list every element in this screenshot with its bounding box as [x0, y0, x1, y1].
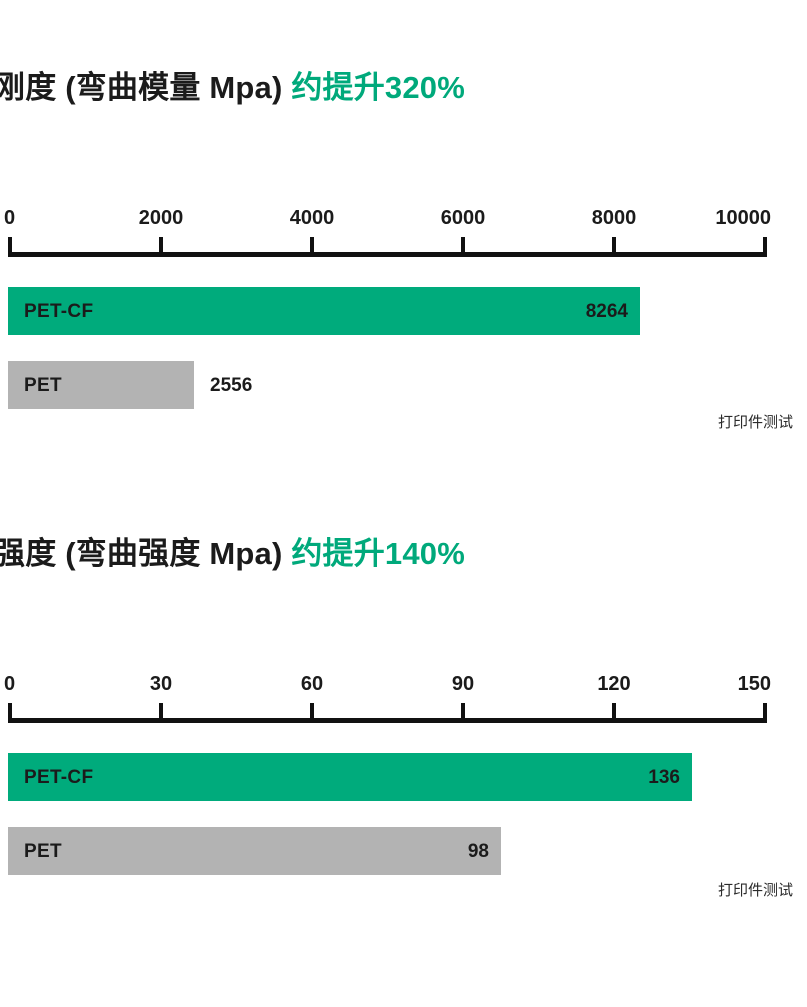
axis-tick-label: 0 [4, 208, 15, 228]
bar-label: PET-CF [24, 302, 93, 321]
bar-row: PET 2556 [0, 361, 807, 409]
bar-pet-cf: PET-CF 136 [8, 753, 692, 801]
axis-tick [612, 703, 616, 723]
chart-title: 强度 (弯曲强度 Mpa) 约提升140% [0, 538, 465, 569]
axis-tick-label: 10000 [715, 208, 771, 228]
chart-title-accent: 约提升140% [291, 536, 465, 571]
axis-tick [310, 703, 314, 723]
chart-bars: PET-CF 136 PET 98 [0, 753, 807, 901]
axis-line [10, 718, 765, 723]
bar-pet-cf: PET-CF 8264 [8, 287, 640, 335]
bar-label: PET [24, 842, 62, 861]
axis-tick-label: 120 [597, 674, 630, 694]
axis-tick [612, 237, 616, 257]
chart-footnote: 打印件测试 [718, 883, 793, 898]
axis-tick-label: 60 [301, 674, 323, 694]
bar-label: PET [24, 376, 62, 395]
bar-row: PET-CF 8264 [0, 287, 807, 335]
chart-axis: 0 2000 4000 6000 8000 10000 [10, 197, 765, 257]
chart-title-main: 强度 (弯曲强度 Mpa) [0, 536, 282, 571]
axis-tick-label: 6000 [441, 208, 486, 228]
bar-row: PET 98 [0, 827, 807, 875]
axis-tick-label: 150 [738, 674, 771, 694]
axis-tick-label: 4000 [290, 208, 335, 228]
chart-title-main: 刚度 (弯曲模量 Mpa) [0, 70, 282, 105]
bar-pet: PET [8, 361, 194, 409]
axis-tick-label: 90 [452, 674, 474, 694]
axis-tick [8, 237, 12, 257]
bar-value: 98 [468, 842, 489, 861]
bar-value: 136 [648, 768, 680, 787]
bar-row: PET-CF 136 [0, 753, 807, 801]
chart-footnote: 打印件测试 [718, 415, 793, 430]
chart-title: 刚度 (弯曲模量 Mpa) 约提升320% [0, 72, 465, 103]
axis-line [10, 252, 765, 257]
axis-tick-label: 0 [4, 674, 15, 694]
axis-tick [159, 703, 163, 723]
axis-tick-label: 30 [150, 674, 172, 694]
infographic-page: 刚度 (弯曲模量 Mpa) 约提升320% 0 2000 4000 6000 8… [0, 0, 807, 1007]
axis-tick [159, 237, 163, 257]
axis-tick [310, 237, 314, 257]
axis-tick [763, 237, 767, 257]
axis-tick [461, 703, 465, 723]
bar-pet: PET 98 [8, 827, 501, 875]
axis-tick [461, 237, 465, 257]
axis-tick [8, 703, 12, 723]
bar-label: PET-CF [24, 768, 93, 787]
chart-bars: PET-CF 8264 PET 2556 [0, 287, 807, 435]
axis-tick [763, 703, 767, 723]
chart-title-accent: 约提升320% [291, 70, 465, 105]
chart-axis: 0 30 60 90 120 150 [10, 663, 765, 723]
bar-value: 8264 [586, 302, 628, 321]
axis-tick-label: 8000 [592, 208, 637, 228]
axis-tick-label: 2000 [139, 208, 184, 228]
bar-value: 2556 [210, 361, 252, 409]
